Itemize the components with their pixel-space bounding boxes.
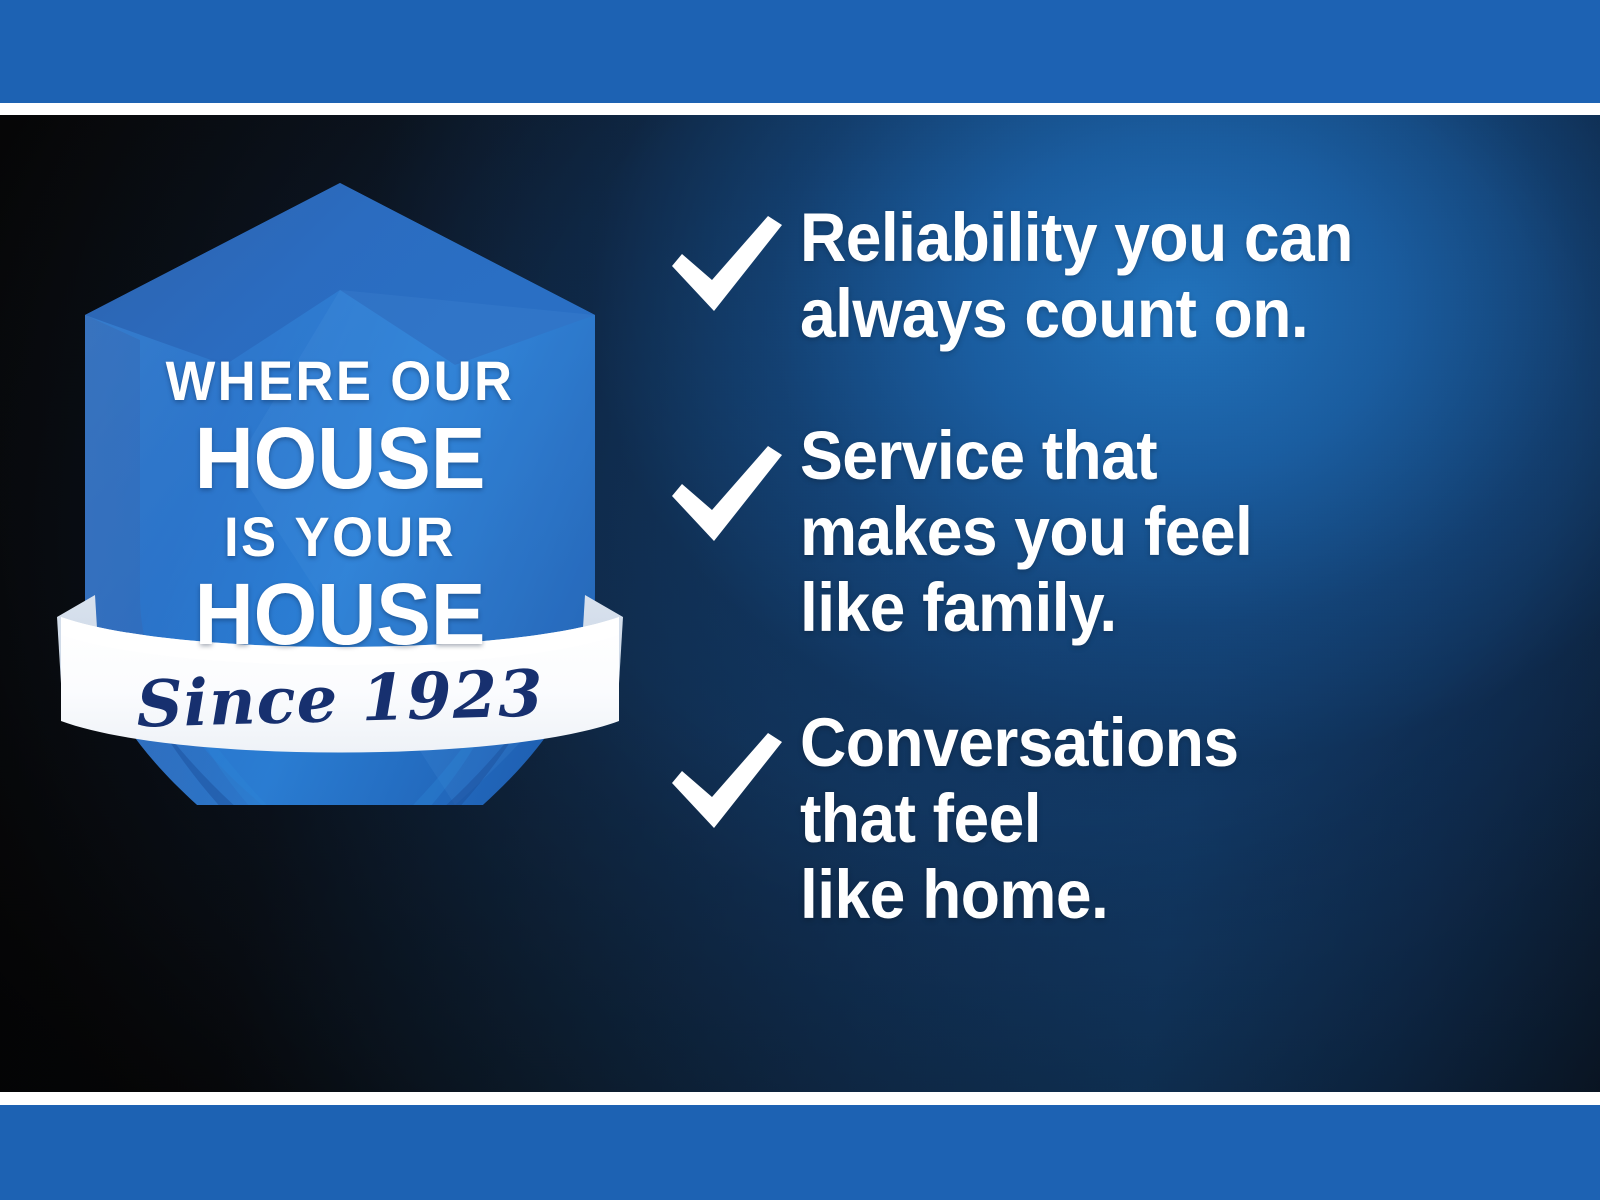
badge-line-1: WHERE OUR [72, 353, 608, 409]
checkmark-icon [668, 418, 800, 548]
benefit-line: that feel [800, 781, 1477, 857]
checkmark-icon [668, 705, 800, 835]
shield-badge: WHERE OUR HOUSE IS YOUR HOUSE Since 1923 [55, 165, 625, 805]
checkmark-icon [668, 200, 800, 318]
benefit-text: Reliability you can always count on. [800, 200, 1477, 352]
benefit-line: like home. [800, 857, 1477, 933]
benefit-line: Reliability you can [800, 200, 1477, 276]
benefit-line: makes you feel [800, 494, 1477, 570]
badge-line-3: IS YOUR [72, 509, 608, 565]
bottom-white-divider [0, 1092, 1600, 1105]
promo-graphic: WHERE OUR HOUSE IS YOUR HOUSE Since 1923… [0, 0, 1600, 1200]
list-item: Service that makes you feel like family. [668, 418, 1528, 646]
benefit-text: Conversations that feel like home. [800, 705, 1477, 933]
benefit-text: Service that makes you feel like family. [800, 418, 1477, 646]
list-item: Conversations that feel like home. [668, 705, 1528, 933]
benefits-list: Reliability you can always count on. Ser… [668, 200, 1528, 999]
benefit-line: Conversations [800, 705, 1477, 781]
badge-line-2: HOUSE [72, 415, 608, 502]
top-white-divider [0, 103, 1600, 115]
top-blue-bar [0, 0, 1600, 103]
badge-line-4: HOUSE [72, 571, 608, 658]
bottom-blue-bar [0, 1105, 1600, 1200]
benefit-line: like family. [800, 570, 1477, 646]
benefit-line: always count on. [800, 276, 1477, 352]
badge-tagline: WHERE OUR HOUSE IS YOUR HOUSE [55, 353, 625, 658]
benefit-line: Service that [800, 418, 1477, 494]
badge-ribbon-since: Since 1923 [54, 654, 626, 745]
list-item: Reliability you can always count on. [668, 200, 1528, 352]
